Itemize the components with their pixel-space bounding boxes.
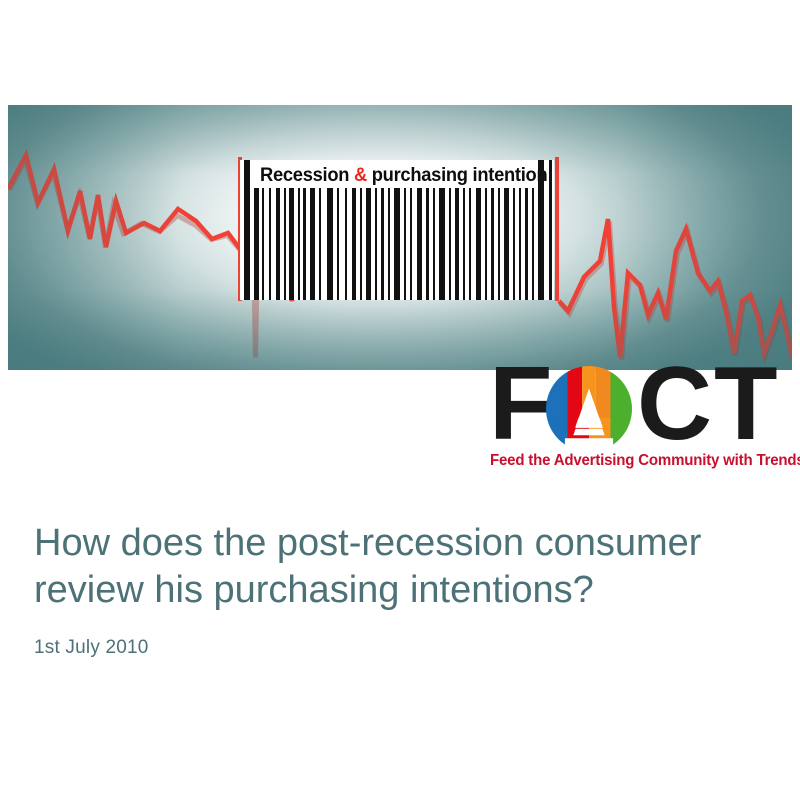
slide-date: 1st July 2010 bbox=[34, 636, 764, 660]
barcode-graphic: Recession & purchasing intention bbox=[240, 160, 554, 300]
fact-letter-c: C bbox=[637, 358, 710, 450]
fact-letter-t: T bbox=[714, 358, 776, 450]
fact-letter-f: F bbox=[489, 358, 551, 450]
fact-logo: F C T bbox=[489, 364, 794, 476]
fact-tagline: Feed the Advertising Community with Tren… bbox=[490, 452, 800, 470]
barcode-bars bbox=[240, 188, 554, 300]
fact-letter-a-color-mark bbox=[546, 366, 632, 452]
barcode-label-ampersand: & bbox=[354, 164, 367, 186]
title-slide: Recession & purchasing intention bbox=[0, 0, 800, 800]
barcode-label-suffix: purchasing intention bbox=[367, 164, 547, 186]
title-block: How does the post-recession consumer rev… bbox=[34, 520, 764, 660]
recession-banner-image: Recession & purchasing intention bbox=[8, 105, 792, 370]
barcode-label-prefix: Recession bbox=[260, 164, 354, 186]
page-title: How does the post-recession consumer rev… bbox=[34, 520, 764, 614]
barcode-label: Recession & purchasing intention bbox=[260, 162, 523, 190]
fact-wordmark: F C T bbox=[489, 364, 794, 456]
